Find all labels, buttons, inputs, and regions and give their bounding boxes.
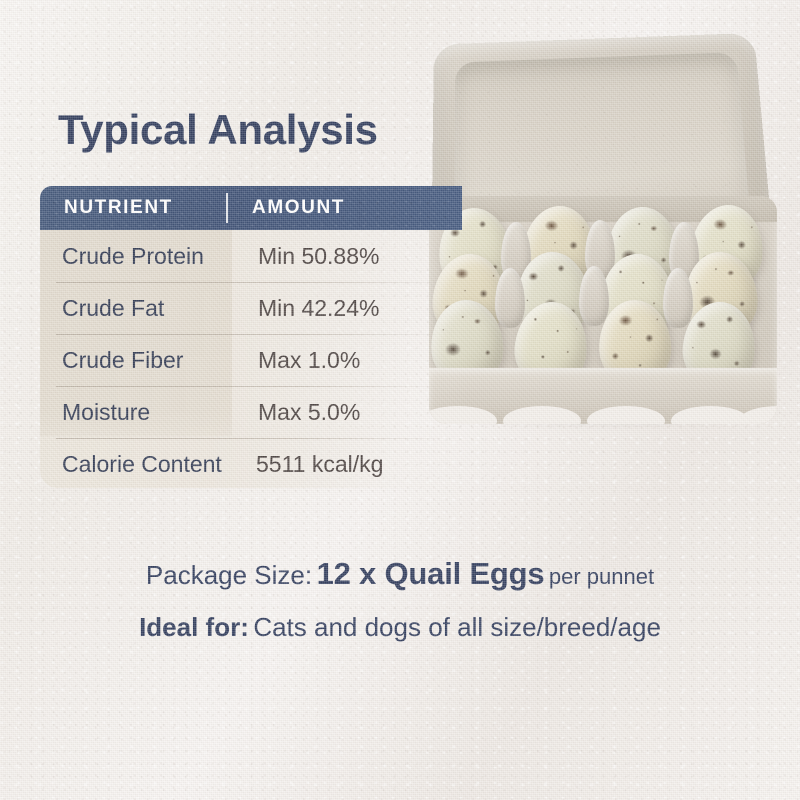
ideal-for-label: Ideal for: bbox=[139, 612, 249, 642]
carton-scallop bbox=[739, 406, 777, 424]
ideal-for-line: Ideal for: Cats and dogs of all size/bre… bbox=[0, 612, 800, 643]
nutrient-name: Moisture bbox=[62, 386, 150, 438]
table-row: Crude Fat Min 42.24% bbox=[40, 282, 470, 334]
egg-grid bbox=[437, 208, 769, 384]
page-title: Typical Analysis bbox=[58, 106, 378, 154]
quail-egg-carton-photo bbox=[415, 28, 790, 448]
package-size-value: 12 x Quail Eggs bbox=[317, 556, 545, 591]
column-header-nutrient: NUTRIENT bbox=[64, 186, 173, 230]
calorie-content-value: 5511 kcal/kg bbox=[256, 438, 383, 490]
ideal-for-value: Cats and dogs of all size/breed/age bbox=[253, 612, 661, 642]
column-header-amount: AMOUNT bbox=[252, 186, 345, 230]
table-row-calorie: Calorie Content 5511 kcal/kg bbox=[40, 438, 470, 490]
nutrient-name: Crude Protein bbox=[62, 230, 204, 282]
nutrient-amount: Max 5.0% bbox=[258, 386, 360, 438]
nutrient-amount: Max 1.0% bbox=[258, 334, 360, 386]
header-column-divider bbox=[226, 193, 228, 223]
table-row: Crude Protein Min 50.88% bbox=[40, 230, 470, 282]
nutrient-name: Crude Fat bbox=[62, 282, 164, 334]
nutrient-amount: Min 50.88% bbox=[258, 230, 379, 282]
nutrient-amount: Min 42.24% bbox=[258, 282, 379, 334]
table-header-row: NUTRIENT AMOUNT bbox=[40, 186, 462, 230]
table-row: Moisture Max 5.0% bbox=[40, 386, 470, 438]
table-row: Crude Fiber Max 1.0% bbox=[40, 334, 470, 386]
carton-front-wall bbox=[429, 368, 777, 424]
carton-scallop bbox=[671, 406, 749, 424]
package-size-suffix: per punnet bbox=[549, 564, 654, 589]
calorie-content-label: Calorie Content bbox=[62, 438, 222, 490]
nutrient-name: Crude Fiber bbox=[62, 334, 183, 386]
package-size-line: Package Size: 12 x Quail Eggs per punnet bbox=[0, 556, 800, 592]
product-infographic: Typical Analysis NUTRIENT AMOUNT Crude P… bbox=[0, 0, 800, 800]
carton-tray bbox=[429, 196, 777, 424]
carton-scallop bbox=[587, 406, 665, 424]
carton-scallop bbox=[503, 406, 581, 424]
typical-analysis-table: NUTRIENT AMOUNT Crude Protein Min 50.88%… bbox=[40, 186, 470, 488]
package-size-label: Package Size: bbox=[146, 560, 312, 590]
